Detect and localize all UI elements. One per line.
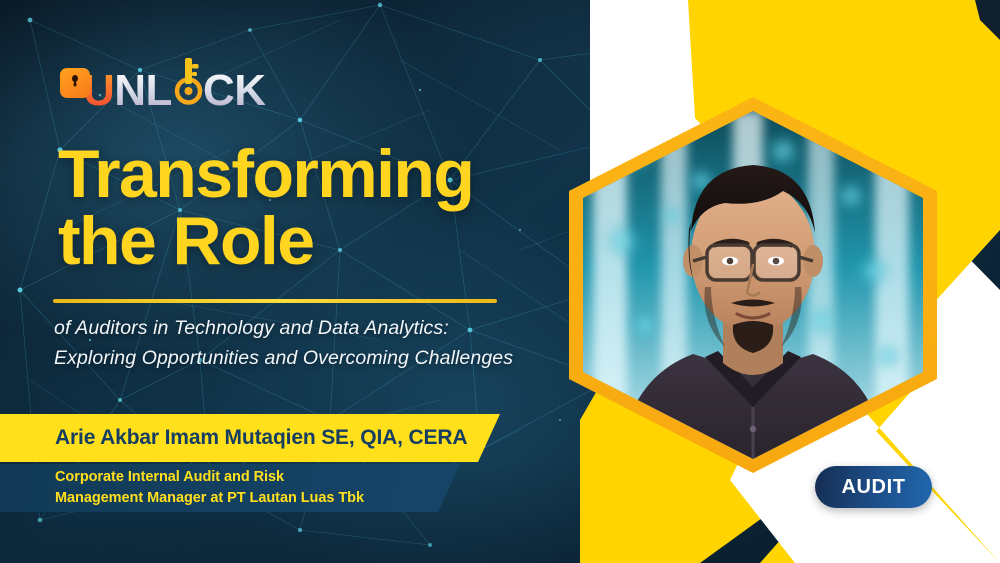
- title-line-1: Transforming: [58, 136, 473, 212]
- audit-badge-label: AUDIT: [841, 476, 905, 499]
- page-title: Transforming the Role: [58, 141, 618, 274]
- logo-letters-ck: CK: [203, 69, 266, 113]
- webinar-poster: U NL CK Transforming the Role of Auditor…: [0, 0, 1000, 563]
- speaker-name-banner: Arie Akbar Imam Mutaqien SE, QIA, CERA: [0, 414, 500, 462]
- unlock-logo: U NL CK: [60, 58, 266, 116]
- title-line-2: the Role: [58, 208, 618, 275]
- page-subtitle: of Auditors in Technology and Data Analy…: [54, 314, 574, 373]
- logo-wordmark: U NL CK: [83, 61, 266, 113]
- speaker-name: Arie Akbar Imam Mutaqien SE, QIA, CERA: [55, 426, 467, 450]
- logo-letters-nl: NL: [114, 69, 172, 113]
- speaker-role-banner: Corporate Internal Audit and Risk Manage…: [0, 464, 460, 512]
- key-icon: [172, 61, 203, 105]
- subtitle-line-1: of Auditors in Technology and Data Analy…: [54, 314, 574, 344]
- speaker-photo-hexagon: [569, 97, 937, 473]
- speaker-role-line-2: Management Manager at PT Lautan Luas Tbk: [55, 488, 460, 509]
- padlock-icon: [60, 68, 90, 98]
- audit-badge[interactable]: AUDIT: [815, 466, 932, 508]
- subtitle-line-2: Exploring Opportunities and Overcoming C…: [54, 344, 574, 374]
- title-divider: [53, 299, 497, 303]
- speaker-role-line-1: Corporate Internal Audit and Risk: [55, 467, 460, 488]
